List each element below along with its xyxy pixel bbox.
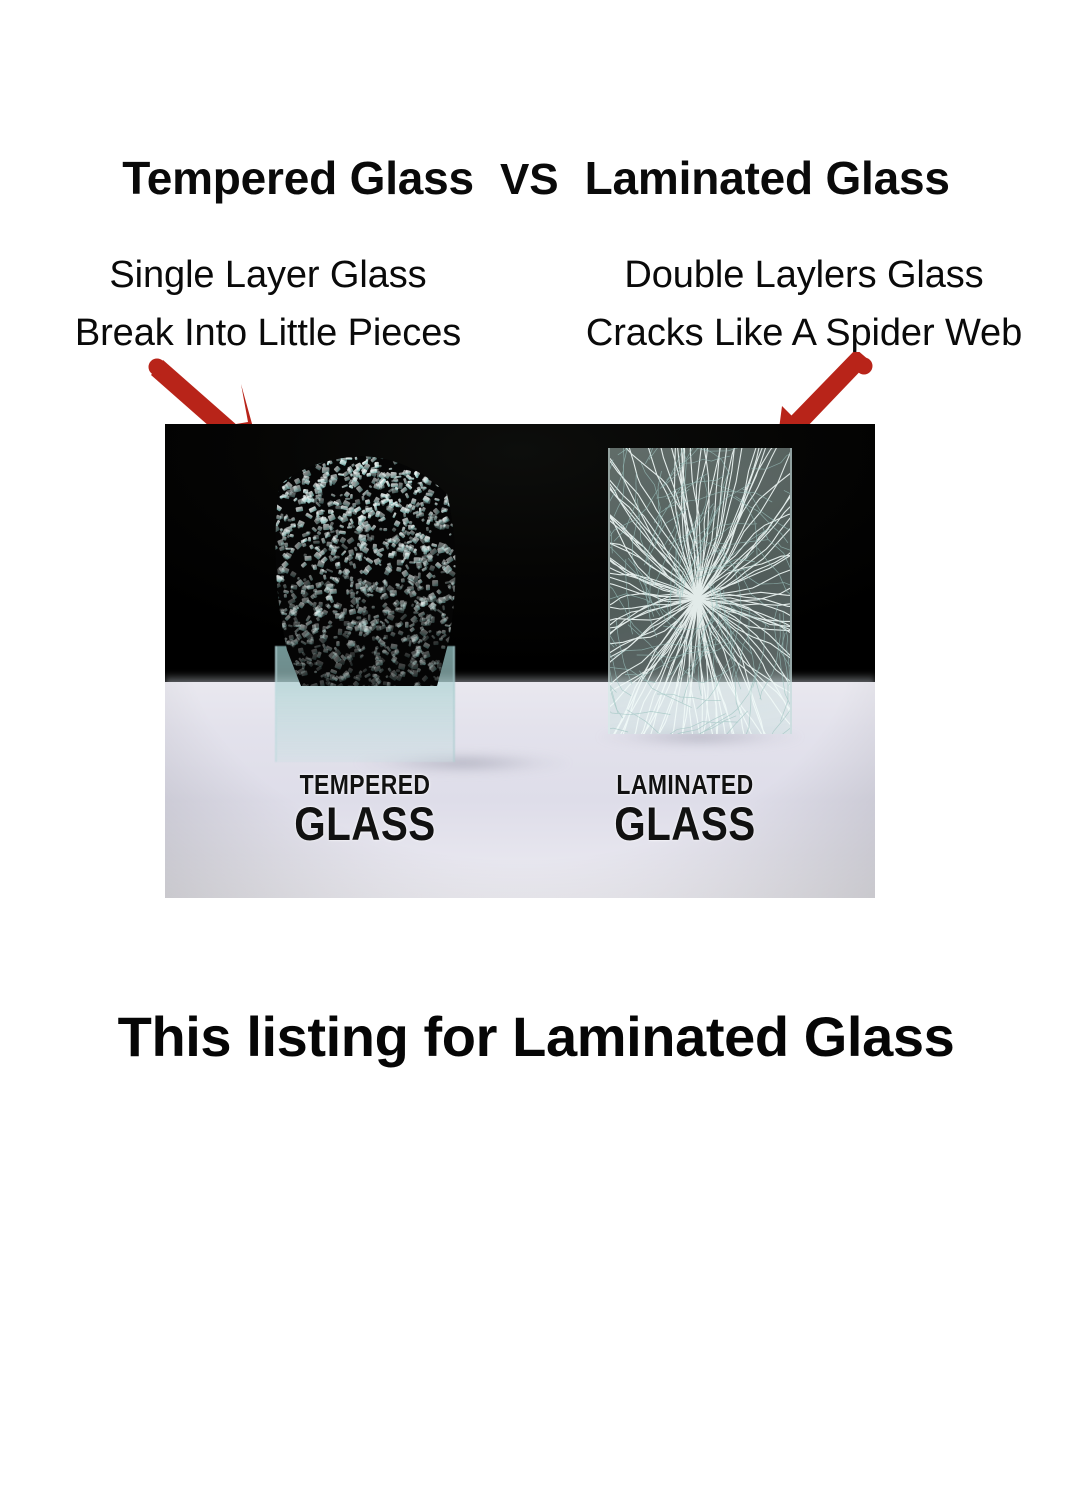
laminated-glass-pane: [608, 448, 792, 734]
glass-comparison-photo: TEMPERED GLASS LAMINATED GLASS: [165, 424, 875, 898]
title-versus-separator: VS: [474, 152, 585, 208]
spider-web-crack-pattern: [610, 448, 790, 734]
photo-label-tempered-top: TEMPERED: [234, 770, 496, 800]
tempered-glass-fragments: [261, 450, 471, 700]
laminated-description-line-1: Double Laylers Glass: [536, 246, 1072, 304]
subcaption-row: Single Layer Glass Break Into Little Pie…: [0, 246, 1072, 366]
tempered-glass-specimen: [261, 450, 471, 740]
tempered-description-line-1: Single Layer Glass: [0, 246, 536, 304]
title-laminated-glass: Laminated Glass: [585, 150, 950, 206]
subcaption-column-laminated: Double Laylers Glass Cracks Like A Spide…: [536, 246, 1072, 366]
photo-label-laminated-top: LAMINATED: [554, 770, 816, 800]
listing-statement: This listing for Laminated Glass: [0, 1002, 1072, 1072]
page-title: Tempered Glass VS Laminated Glass: [0, 150, 1072, 210]
tempered-description-line-2: Break Into Little Pieces: [0, 304, 536, 362]
photo-label-laminated: LAMINATED GLASS: [525, 770, 845, 848]
title-tempered-glass: Tempered Glass: [122, 150, 474, 206]
photo-label-tempered-bottom: GLASS: [227, 800, 502, 848]
subcaption-column-tempered: Single Layer Glass Break Into Little Pie…: [0, 246, 536, 366]
laminated-description-line-2: Cracks Like A Spider Web: [536, 304, 1072, 362]
comparison-infographic: Tempered Glass VS Laminated Glass Single…: [0, 0, 1072, 1500]
photo-label-tempered: TEMPERED GLASS: [205, 770, 525, 848]
photo-label-laminated-bottom: GLASS: [547, 800, 822, 848]
laminated-glass-specimen: [603, 448, 793, 748]
